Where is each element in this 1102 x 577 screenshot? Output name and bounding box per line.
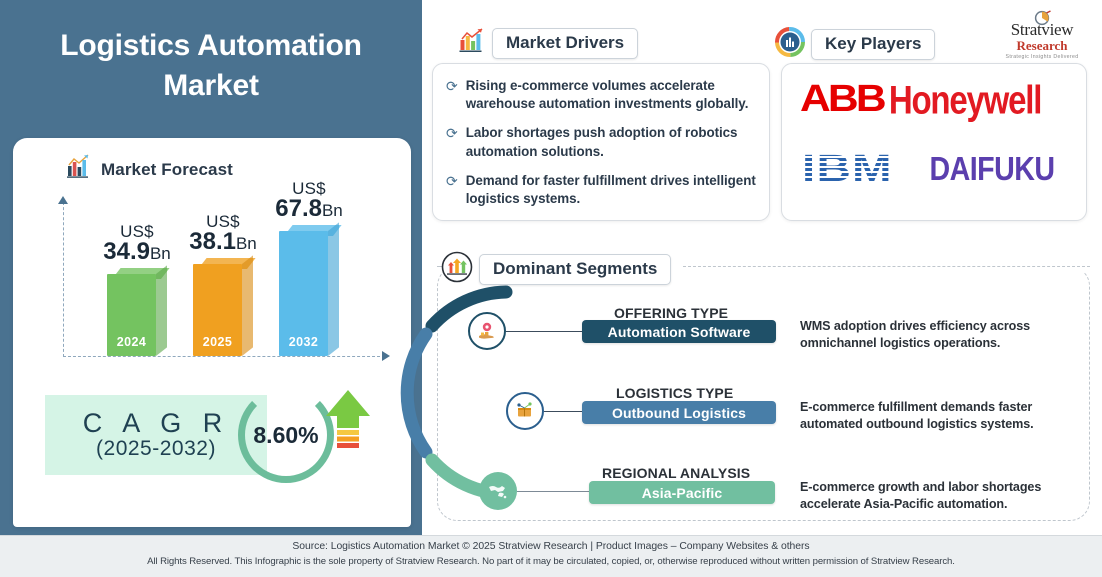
- driver-item: ⟳ Rising e-commerce volumes accelerate w…: [446, 77, 757, 113]
- segment-chip: Automation Software: [582, 320, 776, 343]
- logo-honeywell: Honeywell: [889, 76, 1041, 122]
- refresh-bullet-icon: ⟳: [446, 77, 458, 113]
- bar-2025: US$ 38.1Bn 2025: [193, 258, 253, 356]
- segment-connector: [544, 411, 582, 412]
- market-forecast-label: Market Forecast: [101, 160, 233, 180]
- logo-daifuku: DAIFUKU: [929, 150, 1054, 189]
- stratview-tagline: Strategic Insights Delivered: [988, 54, 1096, 60]
- segment-description: E-commerce growth and labor shortages ac…: [800, 479, 1080, 514]
- package-network-icon: [506, 392, 544, 430]
- gear-hand-icon: [468, 312, 506, 350]
- bar-label-2032: 2032: [279, 335, 328, 349]
- cagr-section: C A G R (2025-2032) 8.60%: [35, 385, 389, 485]
- up-arrow-icon: [323, 388, 373, 458]
- segment-description: WMS adoption drives efficiency across om…: [800, 318, 1080, 353]
- segment-description: E-commerce fulfillment demands faster au…: [800, 399, 1080, 434]
- infographic-page: Logistics Automation Market Market Forec…: [0, 0, 1102, 577]
- logo-row-bottom: IBM DAIFUKU: [802, 148, 1074, 191]
- stratview-sub: Research: [988, 38, 1096, 54]
- market-drivers-badge: Market Drivers: [458, 27, 638, 60]
- bar-2024: US$ 34.9Bn 2024: [107, 268, 167, 356]
- market-forecast-header: Market Forecast: [66, 154, 233, 185]
- segment-title: OFFERING TYPE: [614, 305, 728, 321]
- driver-text: Rising e-commerce volumes accelerate war…: [466, 77, 757, 113]
- left-panel: Logistics Automation Market Market Forec…: [0, 0, 422, 535]
- cagr-label: C A G R: [83, 409, 230, 437]
- cagr-value: 8.60%: [238, 387, 334, 483]
- market-drivers-card: ⟳ Rising e-commerce volumes accelerate w…: [432, 63, 770, 221]
- market-forecast-card: Market Forecast US$ 34.9Bn: [13, 138, 411, 527]
- segment-chip: Outbound Logistics: [582, 401, 776, 424]
- driver-item: ⟳ Demand for faster fulfillment drives i…: [446, 172, 757, 208]
- key-players-card: ABB Honeywell IBM DAIFUKU: [781, 63, 1087, 221]
- driver-text: Demand for faster fulfillment drives int…: [466, 172, 757, 208]
- chart-y-arrow-icon: [58, 196, 68, 204]
- footer-rights: All Rights Reserved. This Infographic is…: [0, 556, 1102, 567]
- pie-chart-icon: [775, 27, 805, 62]
- logo-ibm: IBM: [802, 148, 893, 191]
- chart-y-axis: [63, 202, 64, 357]
- market-drivers-title: Market Drivers: [492, 28, 638, 59]
- globe-icon: [479, 472, 517, 510]
- chart-x-axis: [63, 356, 385, 357]
- logo-abb: ABB: [800, 78, 884, 121]
- bar-value-2025: US$ 38.1Bn: [189, 213, 257, 254]
- bar-chart-icon: [66, 154, 92, 185]
- segment-title: LOGISTICS TYPE: [616, 385, 733, 401]
- market-forecast-chart: US$ 34.9Bn 2024 US$ 38.1Bn: [37, 196, 389, 371]
- bar-value-2024: US$ 34.9Bn: [103, 223, 171, 264]
- bar-label-2025: 2025: [193, 335, 242, 349]
- segment-chip: Asia-Pacific: [589, 481, 775, 504]
- footer: Source: Logistics Automation Market © 20…: [0, 535, 1102, 577]
- footer-source: Source: Logistics Automation Market © 20…: [0, 541, 1102, 552]
- driver-item: ⟳ Labor shortages push adoption of robot…: [446, 124, 757, 160]
- page-title: Logistics Automation Market: [14, 26, 408, 106]
- key-players-badge: Key Players: [775, 27, 935, 62]
- dominant-segments-outline-top-right: [683, 266, 1090, 267]
- refresh-bullet-icon: ⟳: [446, 172, 458, 208]
- logo-row-top: ABB Honeywell: [800, 78, 1072, 121]
- stratview-name: Stratview: [988, 21, 1096, 38]
- driver-text: Labor shortages push adoption of robotic…: [466, 124, 757, 160]
- cagr-box: C A G R (2025-2032): [45, 395, 267, 475]
- segment-connector: [517, 491, 589, 492]
- bar-2032: US$ 67.8Bn 2032: [279, 225, 339, 356]
- growth-chart-icon: [458, 27, 486, 60]
- key-players-title: Key Players: [811, 29, 935, 60]
- segment-connector: [506, 331, 582, 332]
- segment-title: REGIONAL ANALYSIS: [602, 465, 750, 481]
- cagr-period: (2025-2032): [96, 437, 216, 461]
- bar-value-2032: US$ 67.8Bn: [275, 180, 343, 221]
- stratview-logo: Stratview Research Strategic Insights De…: [988, 10, 1096, 60]
- refresh-bullet-icon: ⟳: [446, 124, 458, 160]
- bar-label-2024: 2024: [107, 335, 156, 349]
